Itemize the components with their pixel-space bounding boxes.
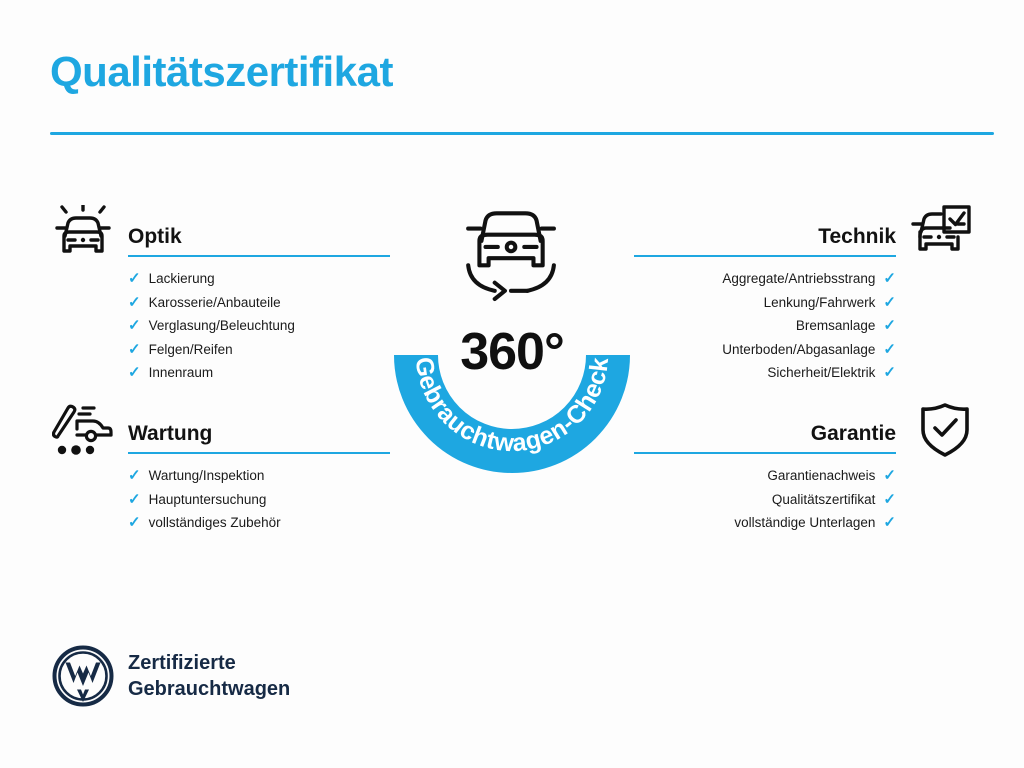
check-icon: ✓ [128,515,141,530]
list-item: Bremsanlage✓ [634,314,974,338]
check-icon: ✓ [883,342,896,357]
section-wartung: Wartung ✓Wartung/Inspektion ✓Hauptunters… [50,402,390,535]
car-service-wrench-icon [52,402,114,458]
list-item-label: vollständiges Zubehör [149,511,281,535]
gebrauchtwagen-check-badge: Gebrauchtwagen-Check 360° [372,192,652,492]
list-item: ✓Felgen/Reifen [50,338,390,362]
list-item: Garantienachweis✓ [634,464,974,488]
list-item: ✓Verglasung/Beleuchtung [50,314,390,338]
check-icon: ✓ [883,468,896,483]
check-icon: ✓ [883,492,896,507]
check-icon: ✓ [128,295,141,310]
section-garantie-title: Garantie [811,422,896,446]
check-icon: ✓ [883,271,896,286]
vw-logo-text: Zertifizierte Gebrauchtwagen [128,650,290,702]
vw-logo-text-line2: Gebrauchtwagen [128,676,290,702]
list-item-label: vollständige Unterlagen [734,511,875,535]
list-item-label: Bremsanlage [796,314,876,338]
section-optik-title: Optik [128,225,182,249]
check-icon: ✓ [128,365,141,380]
car-front-checkbox-icon [910,205,972,261]
list-item-label: Aggregate/Antriebsstrang [722,267,875,291]
list-item: ✓Lackierung [50,267,390,291]
check-icon: ✓ [883,365,896,380]
list-item: ✓Hauptuntersuchung [50,488,390,512]
check-icon: ✓ [883,295,896,310]
list-item-label: Sicherheit/Elektrik [767,361,875,385]
list-item-label: Garantienachweis [767,464,875,488]
section-technik-list: Aggregate/Antriebsstrang✓ Lenkung/Fahrwe… [634,267,974,385]
section-optik-header: Optik [50,205,390,267]
badge-center-label: 360° [372,322,652,382]
section-garantie-list: Garantienachweis✓ Qualitätszertifikat✓ v… [634,464,974,535]
car-rotation-icon [468,213,554,299]
list-item: vollständige Unterlagen✓ [634,511,974,535]
list-item: Aggregate/Antriebsstrang✓ [634,267,974,291]
vw-logo-text-line1: Zertifizierte [128,650,290,676]
list-item-label: Verglasung/Beleuchtung [149,314,295,338]
check-icon: ✓ [883,515,896,530]
vw-logo [52,645,114,707]
check-icon: ✓ [128,342,141,357]
list-item: ✓Wartung/Inspektion [50,464,390,488]
check-icon: ✓ [128,271,141,286]
list-item: Lenkung/Fahrwerk✓ [634,291,974,315]
list-item: Sicherheit/Elektrik✓ [634,361,974,385]
list-item-label: Lackierung [149,267,215,291]
list-item-label: Hauptuntersuchung [149,488,267,512]
list-item-label: Unterboden/Abgasanlage [722,338,875,362]
section-optik-divider [128,255,390,257]
check-icon: ✓ [883,318,896,333]
section-technik-title: Technik [818,225,896,249]
section-technik: Technik Aggregate/Antriebsstrang✓ Lenkun… [634,205,974,385]
check-icon: ✓ [128,318,141,333]
list-item: Unterboden/Abgasanlage✓ [634,338,974,362]
check-icon: ✓ [128,492,141,507]
section-garantie-divider [634,452,896,454]
section-wartung-list: ✓Wartung/Inspektion ✓Hauptuntersuchung ✓… [50,464,390,535]
list-item: Qualitätszertifikat✓ [634,488,974,512]
section-garantie-header: Garantie [634,402,974,464]
section-wartung-divider [128,452,390,454]
section-technik-divider [634,255,896,257]
section-optik-list: ✓Lackierung ✓Karosserie/Anbauteile ✓Verg… [50,267,390,385]
header-divider [50,132,994,135]
car-front-shine-icon [52,205,114,261]
vw-certified-logo-block: Zertifizierte Gebrauchtwagen [52,645,290,707]
list-item: ✓Karosserie/Anbauteile [50,291,390,315]
list-item: ✓vollständiges Zubehör [50,511,390,535]
list-item-label: Qualitätszertifikat [772,488,876,512]
list-item-label: Felgen/Reifen [149,338,233,362]
section-technik-header: Technik [634,205,974,267]
list-item-label: Lenkung/Fahrwerk [764,291,876,315]
list-item-label: Innenraum [149,361,214,385]
list-item: ✓Innenraum [50,361,390,385]
shield-check-icon [918,402,972,458]
section-garantie: Garantie Garantienachweis✓ Qualitätszert… [634,402,974,535]
list-item-label: Wartung/Inspektion [149,464,265,488]
check-icon: ✓ [128,468,141,483]
section-wartung-header: Wartung [50,402,390,464]
section-wartung-title: Wartung [128,422,212,446]
certificate-page: Qualitätszertifikat [0,0,1024,768]
section-optik: Optik ✓Lackierung ✓Karosserie/Anbauteile… [50,205,390,385]
page-title: Qualitätszertifikat [50,48,393,96]
list-item-label: Karosserie/Anbauteile [149,291,281,315]
